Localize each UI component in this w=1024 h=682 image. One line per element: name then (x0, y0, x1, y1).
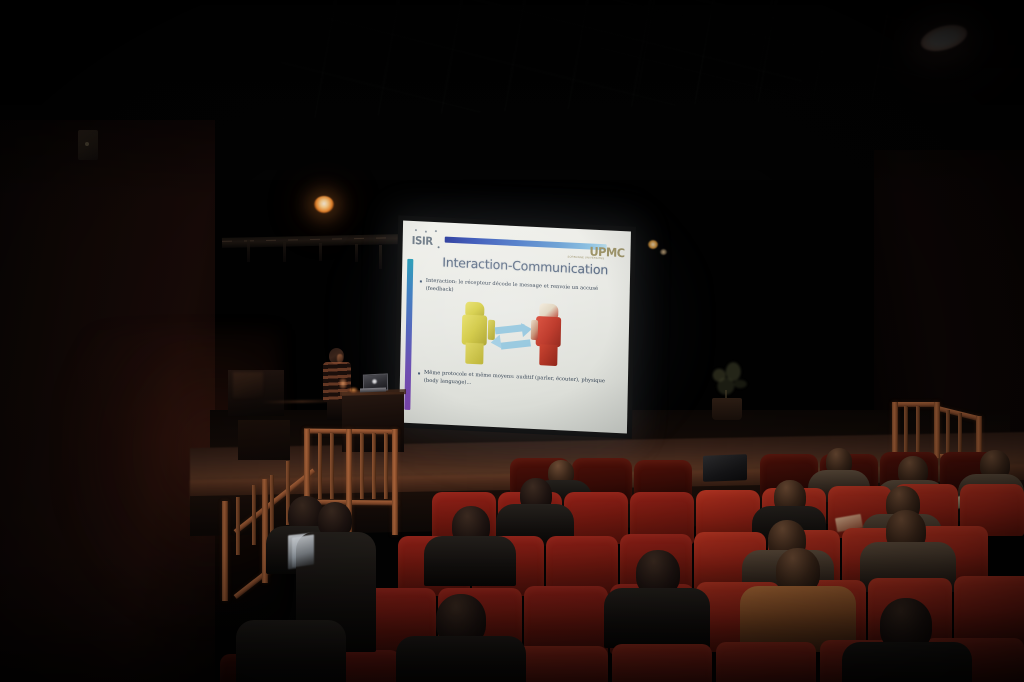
arrow-left-head-icon (490, 335, 502, 350)
slide-figure-interaction (448, 297, 577, 373)
audience-member-shoulders (396, 636, 526, 682)
theater-seat (954, 576, 1024, 646)
upmc-logo-subtitle: SORBONNE UNIVERSITES (568, 255, 605, 260)
figure-arm (531, 320, 538, 340)
slide-surface: ISIR UPMC SORBONNE UNIVERSITES Interacti… (399, 221, 631, 434)
amber-spotlight-icon (314, 196, 334, 213)
theater-seat (612, 644, 712, 682)
audience-member-foreground (236, 620, 346, 682)
side-table-glow (233, 372, 263, 398)
theater-seat (716, 642, 816, 682)
figure-person-yellow-icon (458, 301, 493, 365)
truss-leg (283, 242, 286, 262)
bullet-marker-icon (418, 372, 420, 374)
ceiling-tile-grid-secondary (600, 0, 930, 100)
truss-leg (355, 244, 358, 262)
isir-logo-accent-dot-icon (438, 246, 440, 248)
figure-body (462, 314, 488, 345)
wall-speaker-led-icon (85, 142, 89, 146)
audience-seating (0, 440, 1024, 682)
plant-pot (712, 398, 742, 420)
truss-leg (247, 240, 250, 262)
apple-logo-icon (372, 379, 377, 384)
slide-bullet-item: Même protocole et même moyens: auditif (… (418, 369, 616, 394)
presenter-hand (339, 378, 347, 389)
small-spotlight-icon (648, 240, 658, 249)
slide-side-accent-bar (404, 259, 413, 410)
figure-legs (539, 344, 557, 366)
small-spotlight-secondary-icon (660, 249, 667, 255)
lectern-lamp-icon (349, 387, 358, 393)
lecture-hall-photo: ISIR UPMC SORBONNE UNIVERSITES Interacti… (0, 0, 1024, 682)
figure-body (536, 316, 562, 347)
figure-exchange-arrows-icon (492, 321, 535, 357)
figure-legs (465, 343, 483, 365)
audience-laptop-screen (292, 534, 314, 567)
railing-top-bar (892, 402, 938, 407)
projection-screen: ISIR UPMC SORBONNE UNIVERSITES Interacti… (399, 221, 631, 434)
arrow-left-shaft (500, 339, 531, 349)
truss-leg (319, 243, 322, 261)
audience-member-shoulders (604, 588, 710, 648)
slide-bullet-text: Même protocole et même moyens: auditif (… (424, 370, 616, 395)
isir-logo: ISIR (412, 234, 433, 248)
truss-leg (379, 245, 382, 269)
bullet-marker-icon (420, 280, 422, 282)
header-gradient-bar (445, 237, 607, 251)
audience-member-shoulders (424, 536, 516, 586)
figure-person-red-icon (532, 303, 567, 367)
audience-member-shoulders (842, 642, 972, 682)
